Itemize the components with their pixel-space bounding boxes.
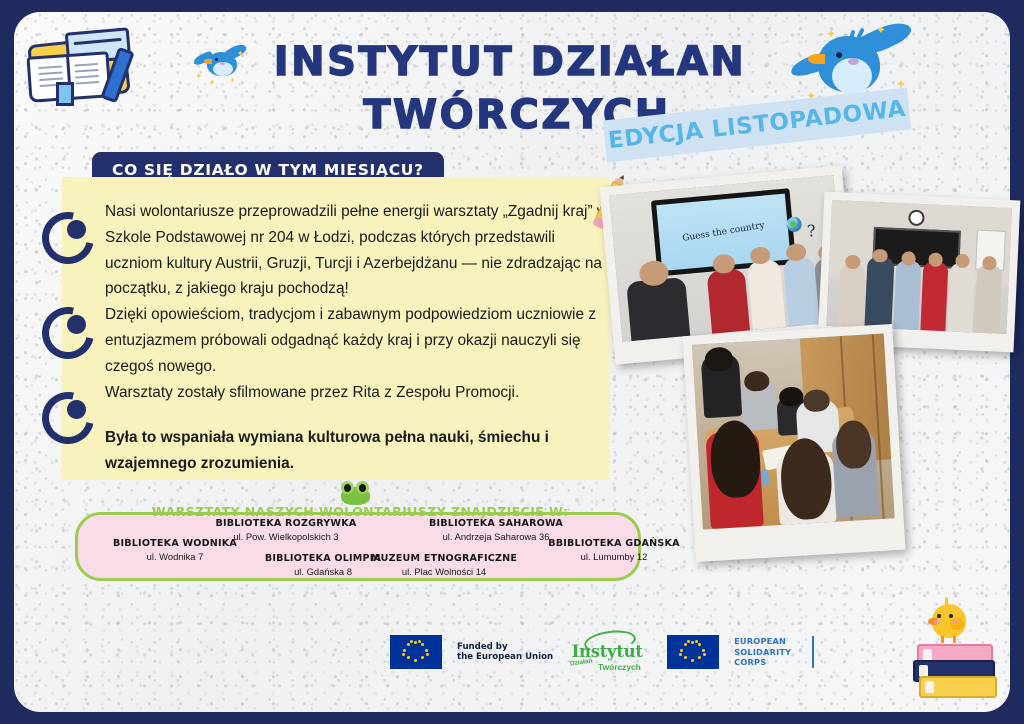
body-paragraph-1: Nasi wolontariusze przeprowadzili pełne … <box>105 199 610 302</box>
body-paragraph-3: Warsztaty zostały sfilmowane przez Rita … <box>105 380 610 406</box>
esc-line-2: SOLIDARITY <box>734 647 791 658</box>
photo-students-workshop <box>682 324 905 562</box>
footer-divider <box>812 636 814 668</box>
body-spacer <box>105 405 610 425</box>
poster-canvas: ✦ ✦ ✦ ✦ ✦ ✦ ✦ ✦ INSTYTUT DZIAŁAN TWÓRCZY… <box>0 0 1024 724</box>
european-solidarity-corps-text: EUROPEAN SOLIDARITY CORPS <box>734 636 791 668</box>
ring-decoration-3 <box>42 392 88 438</box>
ring-decoration-1 <box>42 212 88 258</box>
library-name: MUZEUM ETNOGRAFICZNE <box>352 553 536 564</box>
library-item: BIBLIOTEKA ROZGRYWKA ul. Pow. Wielkopols… <box>186 518 386 542</box>
bird-small-icon: ✦ ✦ ✦ ✦ <box>193 44 249 84</box>
title-line-1: INSTYTUT DZIAŁAN <box>250 36 770 89</box>
library-name: BIBLIOTEKA ROZGRYWKA <box>186 518 386 529</box>
footer-logos: Funded by the European Union Instytut Dz… <box>390 632 814 672</box>
library-item: MUZEUM ETNOGRAFICZNE ul. Plac Wolności 1… <box>352 553 536 577</box>
library-item: BBIBLIOTEKA GDAŃSKA ul. Lumumby 12 <box>518 538 710 562</box>
idt-logo-sub-2: Twórczych <box>598 662 641 672</box>
body-highlight: Była to wspaniała wymiana kulturowa pełn… <box>105 425 610 477</box>
library-name: BBIBLIOTEKA GDAŃSKA <box>518 538 710 549</box>
library-name: BIBLIOTEKA SAHAROWA <box>396 518 596 529</box>
body-text: Nasi wolontariusze przeprowadzili pełne … <box>105 199 610 477</box>
photo1-screen-caption: Guess the country <box>681 220 765 244</box>
esc-line-1: EUROPEAN <box>734 636 791 647</box>
libraries-banner-label: WARSZTATY NASZYCH WOLONTARIUSZY ZNAJDZIE… <box>152 504 568 519</box>
esc-line-3: CORPS <box>734 657 791 668</box>
eu-funding-text: Funded by the European Union <box>457 642 553 663</box>
esc-flag-icon <box>667 635 719 669</box>
books-and-pen-icon <box>22 18 130 104</box>
ring-decoration-2 <box>42 307 88 353</box>
eu-funding-line-2: the European Union <box>457 652 553 663</box>
idt-logo-sub-1: Działań <box>570 657 593 667</box>
body-paragraph-2: Dzięki opowieściom, tradycjom i zabawnym… <box>105 302 610 379</box>
library-address: ul. Plac Wolności 14 <box>352 566 536 577</box>
library-address: ul. Lumumby 12 <box>518 551 710 562</box>
chick-on-books-icon <box>905 600 1005 700</box>
eu-funding-line-1: Funded by <box>457 642 553 653</box>
eu-flag-icon <box>390 635 442 669</box>
library-address: ul. Pow. Wielkopolskich 3 <box>186 531 386 542</box>
instytut-dzialan-tworczych-logo: Instytut Działań Twórczych <box>568 632 646 672</box>
